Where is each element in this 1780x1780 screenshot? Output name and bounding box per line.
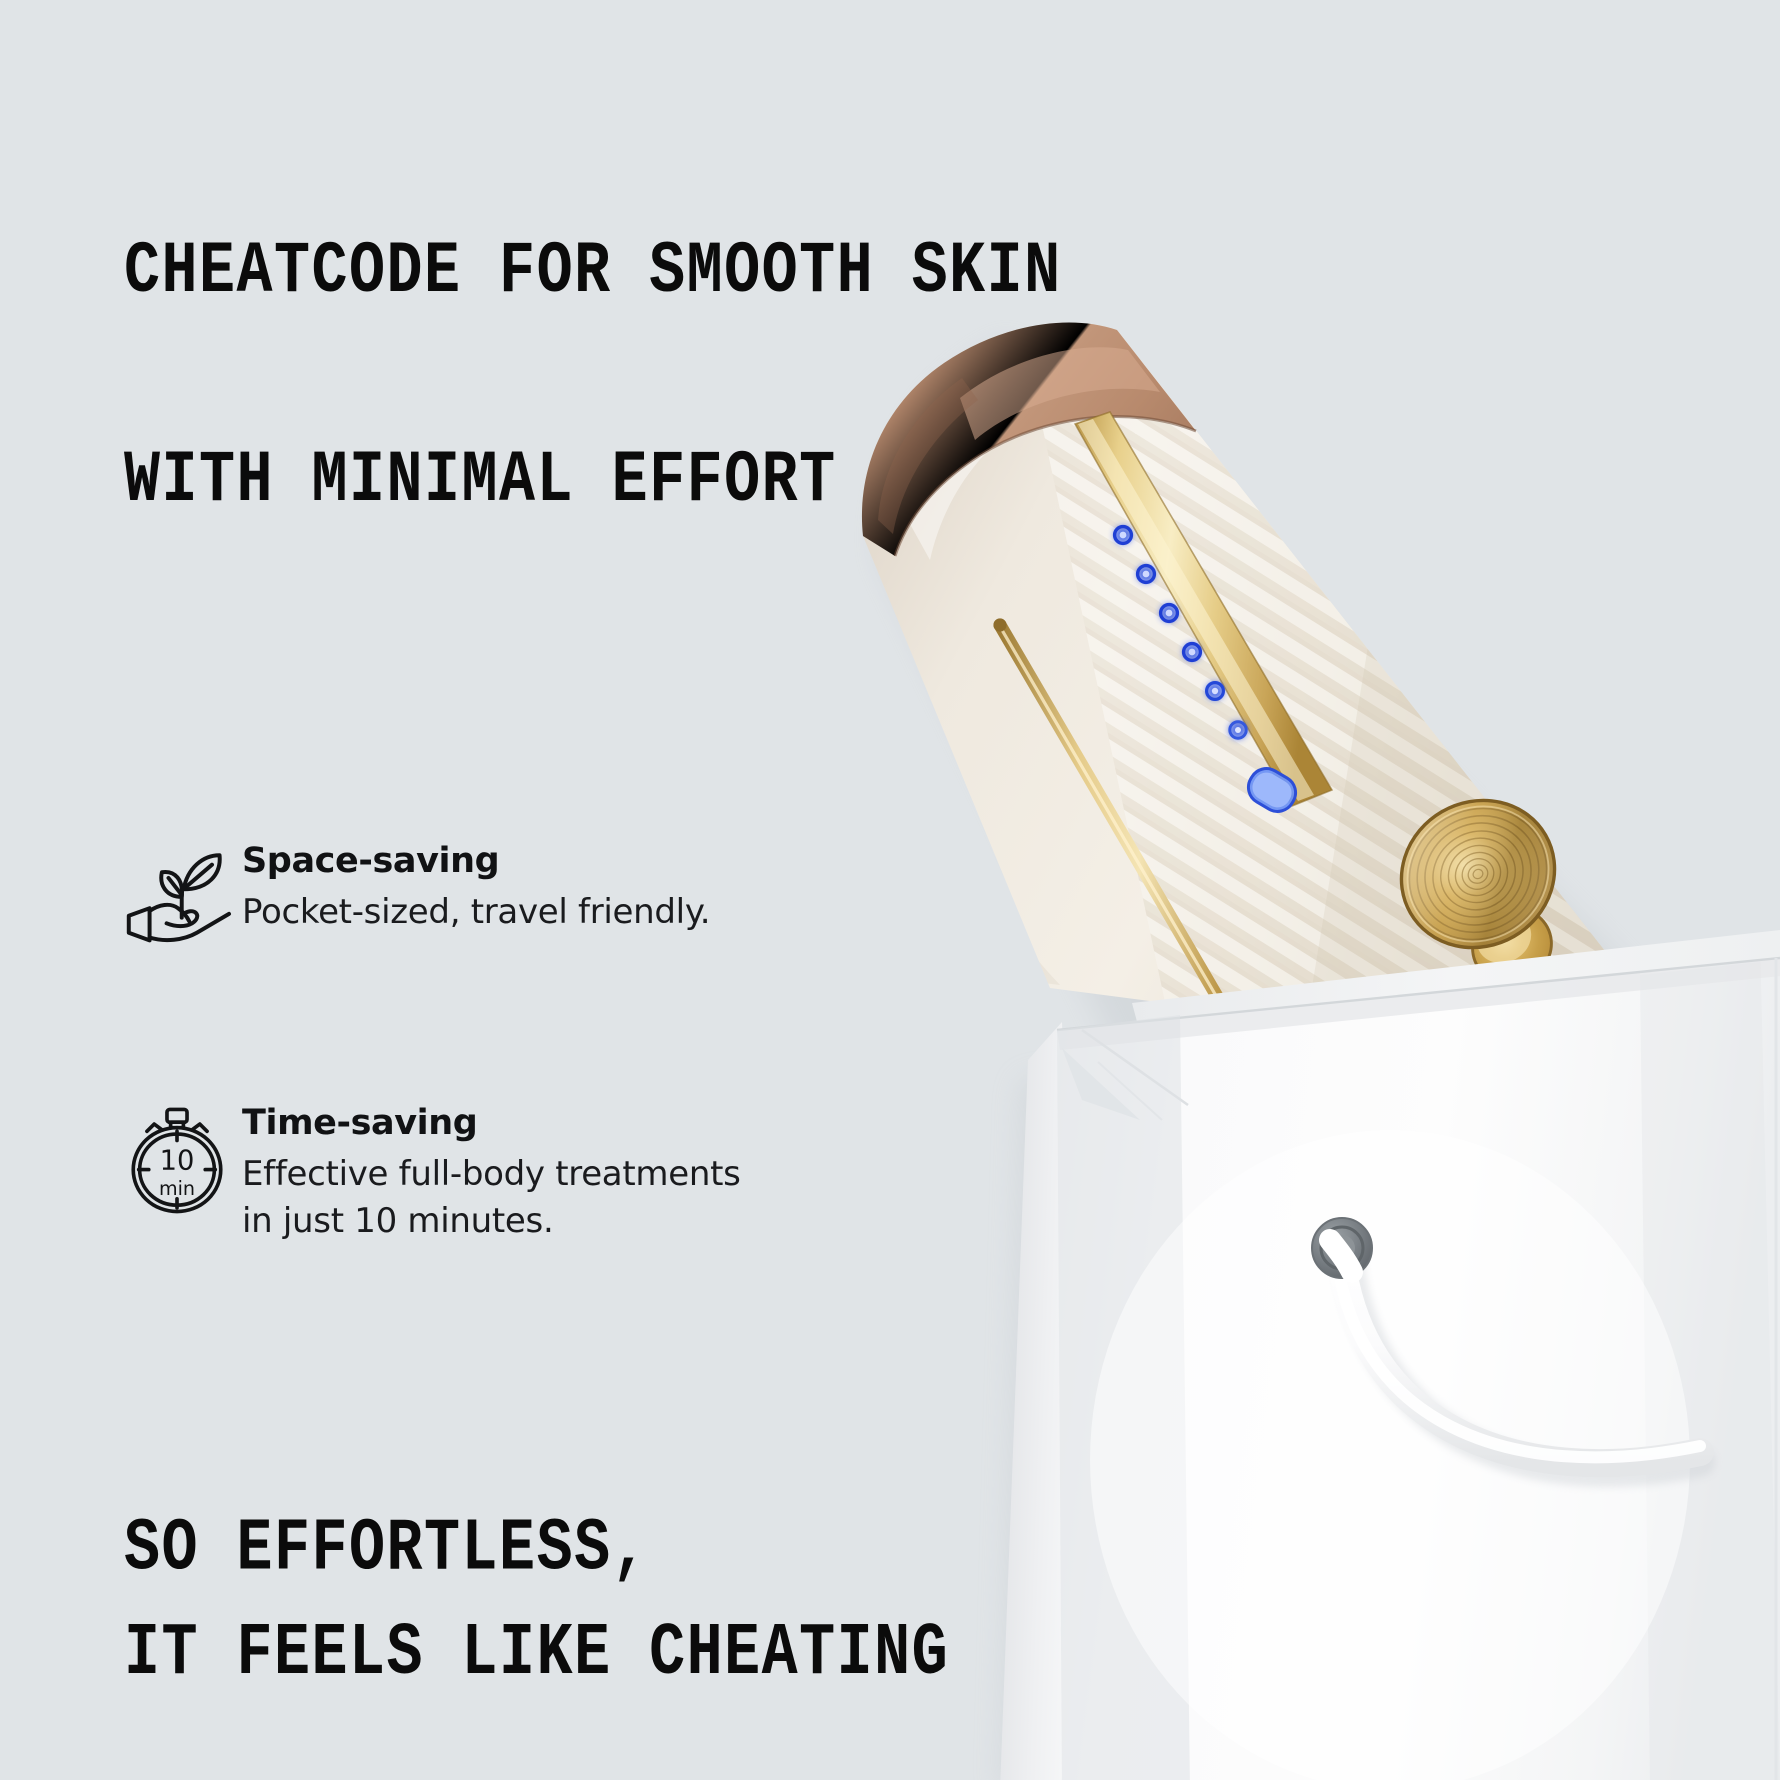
headline-line-1: CHEATCODE FOR SMOOTH SKIN [124,222,1224,326]
hand-holding-plant-icon [118,840,236,960]
stopwatch-value: 10 [160,1146,195,1177]
tagline-line-2: IT FEELS LIKE CHEATING [124,1602,1224,1706]
feature-item-time-saving: 10 min Time-saving Effective full-body t… [118,1102,918,1245]
feature-description: Effective full-body treatments in just 1… [242,1151,741,1245]
stopwatch-unit: min [159,1177,195,1200]
feature-list: Space-saving Pocket-sized, travel friend… [118,840,918,1387]
feature-title: Space-saving [242,842,710,881]
feature-title: Time-saving [242,1104,741,1143]
power-indicator [1242,762,1302,817]
tagline: SO EFFORTLESS, IT FEELS LIKE CHEATING [124,1498,1224,1706]
tagline-line-1: SO EFFORTLESS, [124,1498,1224,1602]
feature-description: Pocket-sized, travel friendly. [242,889,710,936]
bag-handle [1312,1218,1700,1472]
stopwatch-10-min-icon: 10 min [118,1102,236,1222]
gold-dial [1374,773,1581,998]
feature-text: Time-saving Effective full-body treatmen… [236,1102,741,1245]
feature-text: Space-saving Pocket-sized, travel friend… [236,840,710,936]
grommet [1312,1218,1372,1278]
headline: CHEATCODE FOR SMOOTH SKIN WITH MINIMAL E… [124,118,1224,638]
feature-item-space-saving: Space-saving Pocket-sized, travel friend… [118,840,918,960]
marketing-banner: CHEATCODE FOR SMOOTH SKIN WITH MINIMAL E… [0,0,1780,1780]
headline-line-2: WITH MINIMAL EFFORT [124,430,1224,534]
